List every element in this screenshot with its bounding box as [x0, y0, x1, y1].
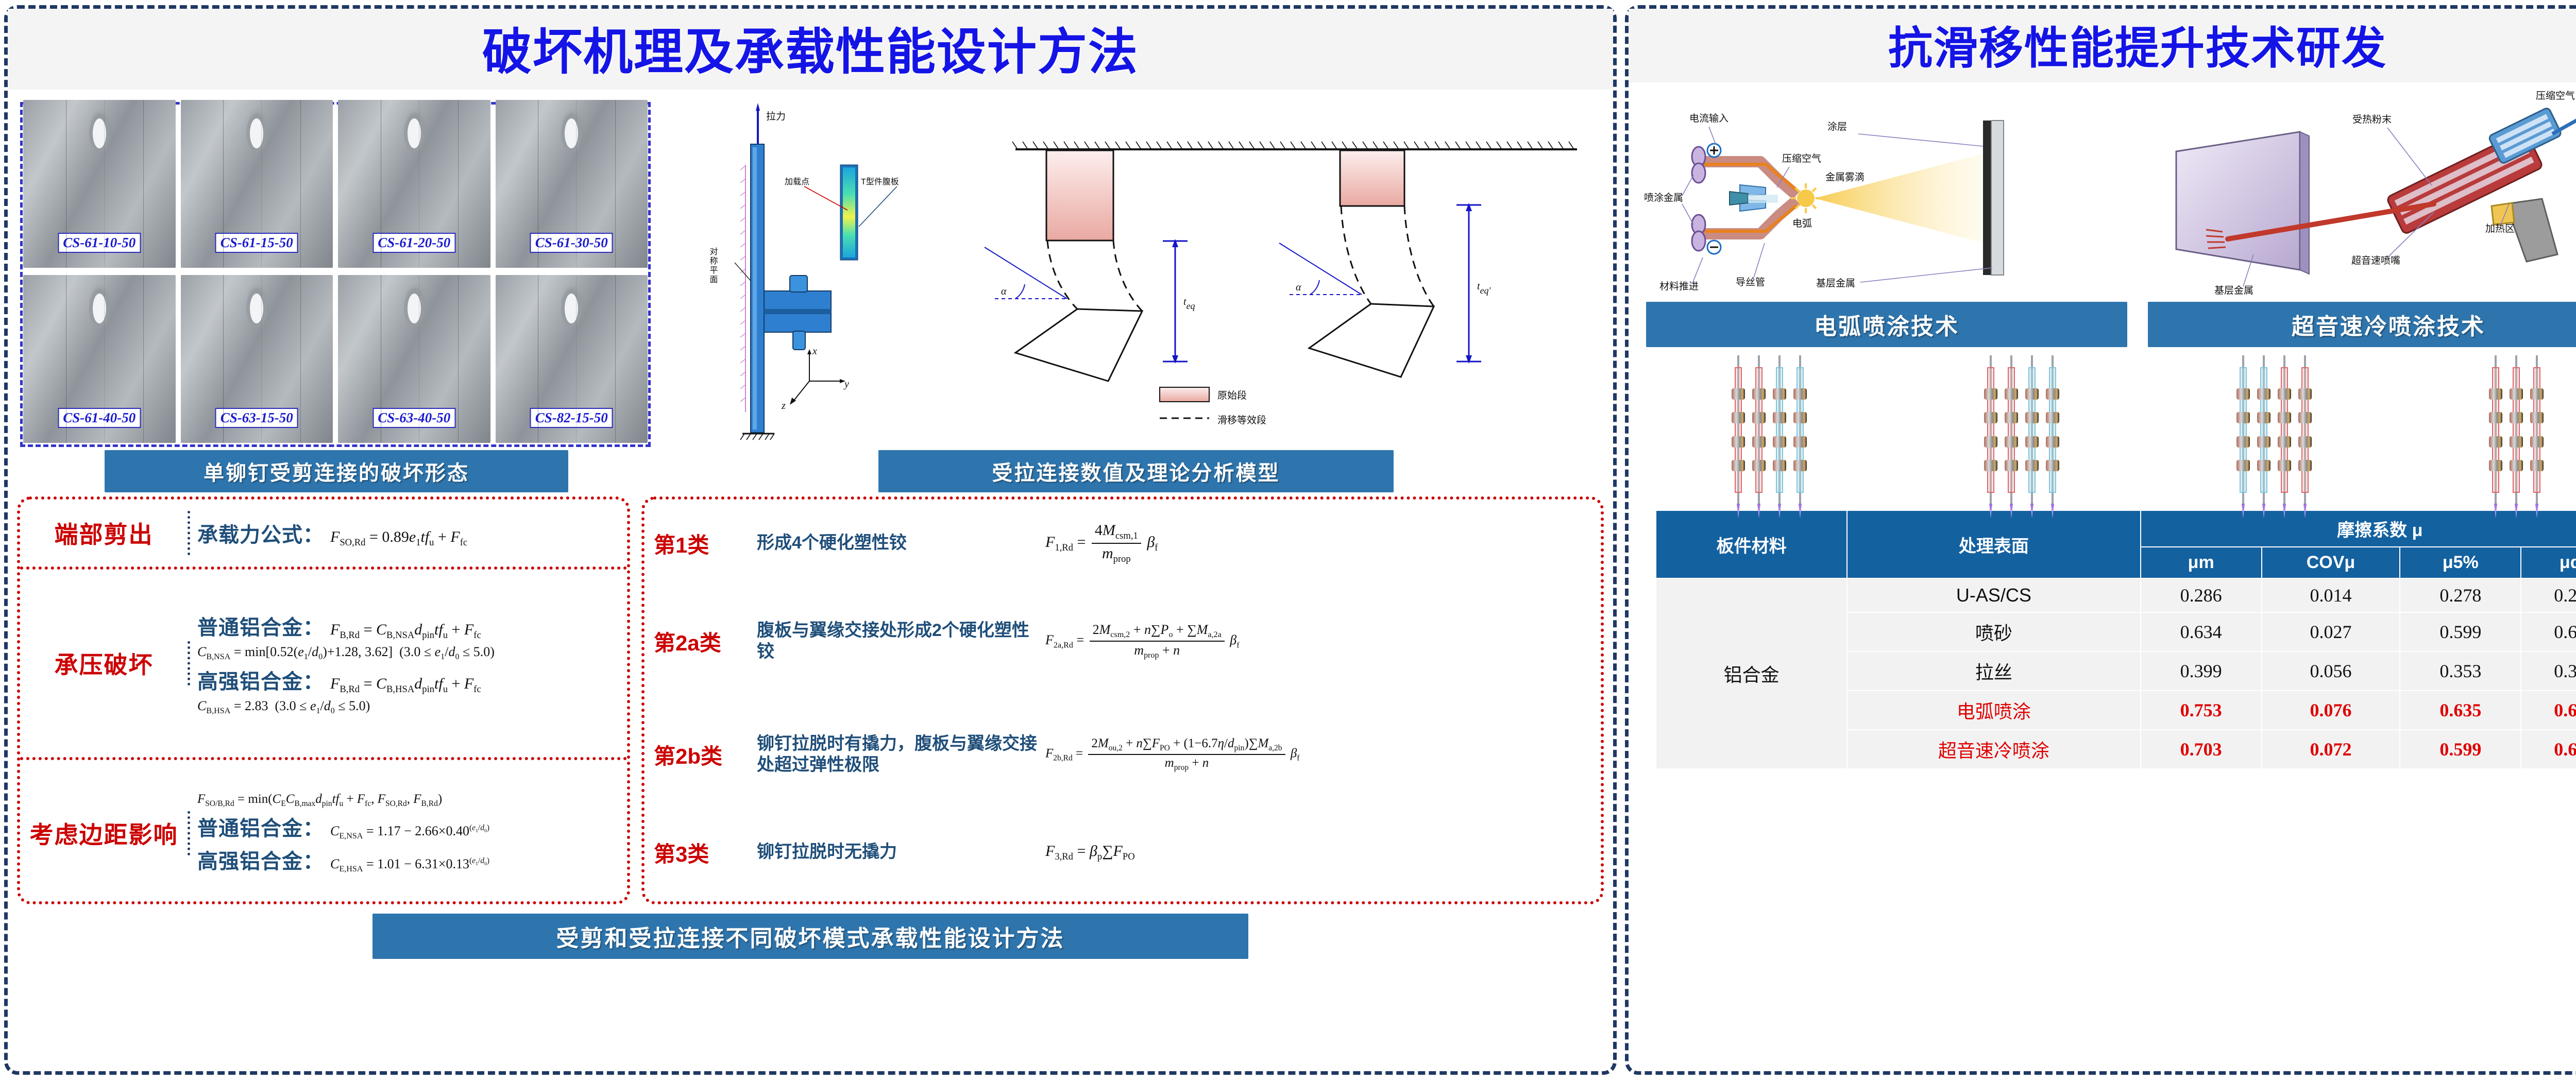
cell-value: 0.703 — [2141, 730, 2262, 769]
cell-value: 0.599 — [2400, 730, 2521, 769]
caption-arc-spray: 电弧喷涂技术 — [1646, 302, 2127, 347]
formula-expression: CB,HSA = 2.83 (3.0 ≤ e1/d0 ≤ 5.0) — [197, 698, 370, 716]
supersonic-nozzle-label: 超音速喷嘴 — [2351, 255, 2400, 266]
wire-tube-label: 导丝管 — [1736, 277, 1765, 288]
formula-expression: CE,HSA = 1.01 − 6.31×0.13(e1/d0) — [330, 856, 489, 874]
th-mu-5: μ5% — [2400, 547, 2521, 578]
mode-label: 第2a类 — [654, 626, 757, 657]
symmetry-plane-label: 对称平面 — [708, 247, 718, 284]
formula-expression: CE,NSA = 1.17 − 2.66×0.40(e1/d0) — [330, 823, 489, 841]
alpha-label: α — [1001, 286, 1007, 297]
svg-text:z: z — [781, 400, 786, 411]
rivet-specimen — [1793, 355, 1807, 505]
th-surface: 处理表面 — [1847, 510, 2140, 578]
specimen-label: CS-63-40-50 — [372, 408, 455, 428]
mode-label: 第1类 — [654, 528, 757, 559]
formula-label: 普通铝合金： — [197, 611, 324, 641]
svg-text:teq': teq' — [1477, 281, 1492, 296]
rivet-specimen — [2530, 355, 2544, 505]
tension-model-diagram: 拉力 — [655, 93, 1605, 450]
panel-1-top-row: CS-61-10-50 CS-61-15-50 CS-61-20-50 CS-6… — [8, 90, 1613, 450]
base-metal-label: 基层金属 — [1816, 278, 1855, 289]
shear-row-end-shear: 端部剪出 承载力公式： FSO,Rd = 0.89e1tfu + Ffc — [20, 500, 627, 566]
panel-1-caption-row: 单铆钉受剪连接的破坏形态 受拉连接数值及理论分析模型 — [8, 450, 1613, 492]
friction-coefficient-table: 板件材料 处理表面 摩擦系数 μ μm COVμ μ5% μd 铝合金U-AS/… — [1655, 510, 2576, 769]
rivet-specimen — [2298, 355, 2312, 505]
cell-value: 0.014 — [2262, 578, 2400, 612]
specimen-photo: CS-82-15-50 — [496, 275, 648, 443]
cell-value: 0.056 — [2262, 651, 2400, 691]
cell-value: 0.599 — [2400, 612, 2521, 651]
cell-value: 0.753 — [2141, 691, 2262, 730]
specimen-photo: CS-61-40-50 — [23, 275, 176, 443]
arc-label: 电弧 — [1792, 218, 1812, 229]
panel-2-title-band: 抗滑移性能提升技术研发 — [1629, 9, 2576, 82]
panel-1-footer: 受剪和受拉连接不同破坏模式承载性能设计方法 — [8, 904, 1613, 959]
specimen-photo: CS-63-40-50 — [338, 275, 490, 443]
cell-value: 0.25 — [2521, 578, 2576, 612]
legend-slip-label: 滑移等效段 — [1217, 415, 1266, 426]
cell-value: 0.65 — [2521, 691, 2576, 730]
specimen-photo: CS-61-20-50 — [338, 100, 490, 268]
th-mu-m: μm — [2141, 547, 2262, 578]
formula-expression: FSO,Rd = 0.89e1tfu + Ffc — [330, 528, 467, 548]
cell-value: 0.353 — [2400, 651, 2521, 691]
caption-tension-model: 受拉连接数值及理论分析模型 — [878, 450, 1394, 492]
tension-mode-row: 第3类 铆钉拉脱时无撬力 F3,Rd = βp∑FPO — [645, 814, 1601, 891]
rivet-specimen — [2236, 355, 2250, 505]
rivet-specimen-row — [1629, 347, 2576, 507]
cell-surface: 拉丝 — [1847, 651, 2140, 691]
specimen-photo: CS-61-15-50 — [181, 100, 333, 268]
mode-description: 铆钉拉脱时有撬力，腹板与翼缘交接处超过弹性极限 — [757, 733, 1045, 776]
formula-label: 普通铝合金： — [197, 812, 324, 841]
formula-label: 高强铝合金： — [197, 845, 324, 874]
svg-text:x: x — [812, 346, 817, 357]
shear-row-bearing: 承压破坏 普通铝合金： FB,Rd = CB,NSAdpintfu + Ffc … — [20, 566, 627, 757]
cell-value: 0.635 — [2400, 691, 2521, 730]
rivet-specimen — [1732, 355, 1745, 505]
spray-caption-row: 电弧喷涂技术 超音速冷喷涂技术 — [1629, 299, 2576, 347]
t-web-label: T型件腹板 — [861, 177, 899, 186]
rivet-specimen — [2489, 355, 2502, 505]
rivet-specimen — [2278, 355, 2291, 505]
shear-row-edge-distance: 考虑边距影响 FSO/B,Rd = min(CECB,maxdpintfu + … — [20, 757, 627, 906]
cell-value: 0.60 — [2521, 730, 2576, 769]
rivet-group — [2489, 355, 2544, 505]
cell-value: 0.399 — [2141, 651, 2262, 691]
compressed-air-label: 压缩空气 — [1782, 153, 1821, 164]
mode-description: 腹板与翼缘交接处形成2个硬化塑性铰 — [757, 620, 1045, 663]
arc-spray-svg: 电流输入 喷涂金属 材料推进 导丝管 压缩空气 电弧 涂层 金属雾滴 基层金属 — [1642, 84, 2106, 301]
cell-surface: U-AS/CS — [1847, 578, 2140, 612]
panel-2-title: 抗滑移性能提升技术研发 — [1629, 12, 2576, 76]
cell-surface: 电弧喷涂 — [1847, 691, 2140, 730]
caption-specimen-photos: 单铆钉受剪连接的破坏形态 — [105, 450, 568, 492]
cell-value: 0.072 — [2262, 730, 2400, 769]
slip-equivalent-model: α teq α — [985, 142, 1577, 426]
cell-value: 0.076 — [2262, 691, 2400, 730]
panel-1-formula-row: 端部剪出 承载力公式： FSO,Rd = 0.89e1tfu + Ffc 承压破… — [8, 492, 1613, 904]
specimen-grid: CS-61-10-50 CS-61-15-50 CS-61-20-50 CS-6… — [23, 100, 648, 443]
cell-surface: 喷砂 — [1847, 612, 2140, 651]
coating-label: 涂层 — [1827, 121, 1847, 132]
th-cov-mu: COVμ — [2262, 547, 2400, 578]
failure-mode-label: 端部剪出 — [20, 511, 190, 555]
current-input-label: 电流输入 — [1689, 113, 1728, 124]
formula-label: 高强铝合金： — [197, 665, 324, 695]
panel-slip-resistance: 抗滑移性能提升技术研发 — [1625, 5, 2576, 1075]
cell-value: 0.027 — [2262, 612, 2400, 651]
rivet-specimen — [1984, 355, 1997, 505]
rivet-specimen — [2510, 355, 2523, 505]
tension-mode-box: 第1类 形成4个硬化塑性铰 F1,Rd = 4Mcsm,1mprop βf 第2… — [641, 496, 1604, 904]
cell-material: 铝合金 — [1656, 578, 1847, 769]
cell-value: 0.286 — [2141, 578, 2262, 612]
formula-expression: FSO/B,Rd = min(CECB,maxdpintfu + Ffc, FS… — [197, 792, 442, 809]
mode-description: 铆钉拉脱时无撬力 — [757, 841, 1045, 863]
cell-value: 0.35 — [2521, 651, 2576, 691]
spray-diagram-row: 电流输入 喷涂金属 材料推进 导丝管 压缩空气 电弧 涂层 金属雾滴 基层金属 — [1629, 82, 2576, 299]
rivet-specimen — [2257, 355, 2270, 505]
failure-mode-label: 承压破坏 — [20, 641, 190, 685]
loading-point-label: 加载点 — [785, 177, 809, 186]
rivet-group — [2236, 355, 2312, 505]
th-mu-group: 摩擦系数 μ — [2141, 510, 2576, 547]
rivet-specimen — [2005, 355, 2018, 505]
cell-surface: 超音速冷喷涂 — [1847, 730, 2140, 769]
specimen-label: CS-61-15-50 — [215, 233, 298, 253]
specimen-label: CS-61-30-50 — [530, 233, 613, 253]
tension-mode-row: 第2b类 铆钉拉脱时有撬力，腹板与翼缘交接处超过弹性极限 F2b,Rd = 2M… — [645, 695, 1601, 814]
legend-original-label: 原始段 — [1217, 390, 1247, 401]
mode-label: 第3类 — [654, 837, 757, 868]
page-title: 破坏机理及承载性能设计方法 — [8, 12, 1613, 83]
spray-metal-label: 喷涂金属 — [1644, 192, 1683, 203]
formula-expression: CB,NSA = min[0.52(e1/d0)+1.28, 3.62] (3.… — [197, 644, 495, 662]
mode-formula: F3,Rd = βp∑FPO — [1045, 843, 1591, 863]
metal-droplet-label: 金属雾滴 — [1825, 171, 1865, 183]
formula-expression: FB,Rd = CB,NSAdpintfu + Ffc — [330, 621, 481, 641]
panel-1-title-band: 破坏机理及承载性能设计方法 — [8, 9, 1613, 90]
tension-model-svg: 拉力 — [655, 93, 1592, 453]
specimen-label: CS-61-40-50 — [58, 408, 141, 428]
shear-design-box: 端部剪出 承载力公式： FSO,Rd = 0.89e1tfu + Ffc 承压破… — [17, 496, 630, 904]
specimen-photo-block: CS-61-10-50 CS-61-15-50 CS-61-20-50 CS-6… — [16, 93, 655, 450]
heating-zone-label: 加热区 — [2485, 223, 2515, 234]
specimen-photo: CS-63-15-50 — [181, 275, 333, 443]
mode-formula: F2b,Rd = 2Mou,2 + n∑FPO + (1−6.7η/dpin)∑… — [1045, 736, 1591, 772]
panel-failure-mechanism: 破坏机理及承载性能设计方法 CS-61-10-50 CS-61-15-50 CS… — [4, 5, 1617, 1075]
arc-spray-diagram: 电流输入 喷涂金属 材料推进 导丝管 压缩空气 电弧 涂层 金属雾滴 基层金属 — [1642, 84, 2130, 299]
heated-powder-label: 受热粉末 — [2352, 114, 2392, 125]
cell-value: 0.278 — [2400, 578, 2521, 612]
rivet-group — [1984, 355, 2059, 505]
specimen-label: CS-82-15-50 — [530, 408, 613, 428]
mode-description: 形成4个硬化塑性铰 — [757, 533, 1045, 554]
table-row: 铝合金U-AS/CS0.2860.0140.2780.25 — [1656, 578, 2576, 612]
rivet-specimen — [2025, 355, 2039, 505]
friction-coefficient-table-wrap: 板件材料 处理表面 摩擦系数 μ μm COVμ μ5% μd 铝合金U-AS/… — [1629, 507, 2576, 769]
mode-formula: F2a,Rd = 2Mcsm,2 + n∑Po + ∑Ma,2amprop + … — [1045, 622, 1591, 660]
th-material: 板件材料 — [1656, 510, 1847, 578]
failure-mode-label: 考虑边距影响 — [20, 811, 190, 855]
mode-label: 第2b类 — [654, 739, 757, 770]
alpha-label-2: α — [1296, 282, 1301, 293]
specimen-photo: CS-61-10-50 — [23, 100, 176, 268]
cold-spray-diagram: 受热粉末 压缩空气 加热区 超音速喷嘴 基层金属 — [2145, 84, 2576, 299]
caption-cold-spray: 超音速冷喷涂技术 — [2148, 302, 2576, 347]
rivet-group — [1732, 355, 1807, 505]
rivet-specimen — [2046, 355, 2059, 505]
cold-spray-svg: 受热粉末 压缩空气 加热区 超音速喷嘴 基层金属 — [2145, 84, 2576, 301]
mode-formula: F1,Rd = 4Mcsm,1mprop βf — [1045, 522, 1591, 565]
caption-design-method: 受剪和受拉连接不同破坏模式承载性能设计方法 — [372, 914, 1248, 959]
formula-expression: FB,Rd = CB,HSAdpintfu + Ffc — [330, 675, 481, 695]
svg-text:teq: teq — [1183, 296, 1195, 311]
pull-force-label: 拉力 — [766, 111, 786, 122]
base-metal-label-2: 基层金属 — [2214, 285, 2253, 296]
th-mu-d: μd — [2521, 547, 2576, 578]
tension-mode-row: 第2a类 腹板与翼缘交接处形成2个硬化塑性铰 F2a,Rd = 2Mcsm,2 … — [645, 587, 1601, 695]
formula-label: 承载力公式： — [197, 518, 324, 548]
rivet-specimen — [1773, 355, 1786, 505]
specimen-label: CS-63-15-50 — [215, 408, 298, 428]
svg-text:y: y — [843, 379, 849, 390]
specimen-label: CS-61-20-50 — [372, 233, 455, 253]
specimen-label: CS-61-10-50 — [58, 233, 141, 253]
axis-triad: x y z — [781, 346, 849, 411]
cell-value: 0.634 — [2141, 612, 2262, 651]
compressed-air-label-2: 压缩空气 — [2536, 90, 2575, 101]
poster-root: 破坏机理及承载性能设计方法 CS-61-10-50 CS-61-15-50 CS… — [0, 0, 2576, 1082]
tension-mode-row: 第1类 形成4个硬化塑性铰 F1,Rd = 4Mcsm,1mprop βf — [645, 500, 1601, 587]
cell-value: 0.60 — [2521, 612, 2576, 651]
t-stub-model: 拉力 — [708, 103, 899, 440]
rivet-specimen — [1752, 355, 1766, 505]
specimen-photo: CS-61-30-50 — [496, 100, 648, 268]
